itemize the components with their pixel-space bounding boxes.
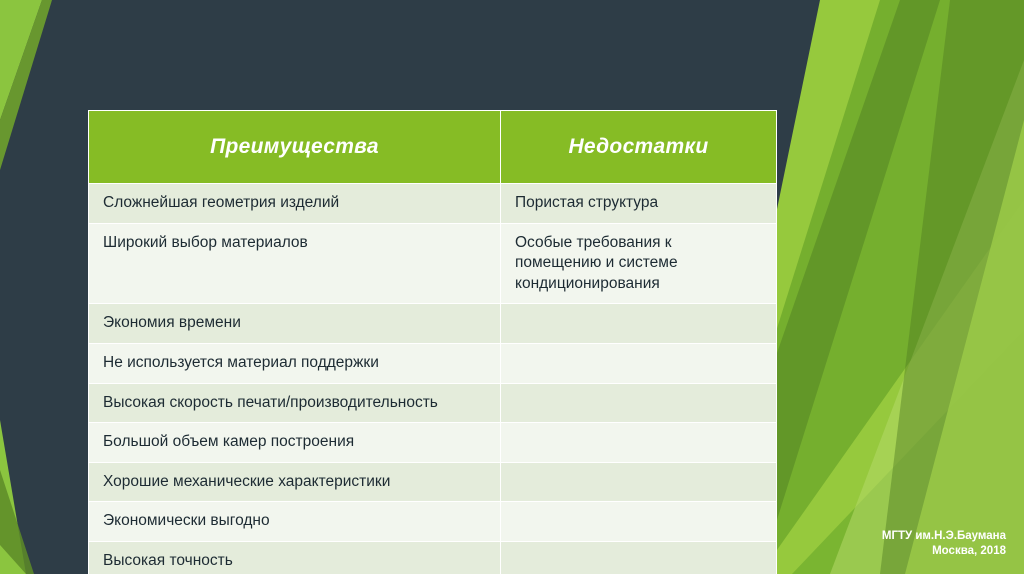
table-row: Экономически выгодно [89,502,777,542]
cell-disadvantage [501,423,777,463]
cell-advantage: Экономия времени [89,304,501,344]
cell-disadvantage: Особые требования к помещению и системе … [501,223,777,304]
footer-line-2: Москва, 2018 [882,544,1006,560]
cell-disadvantage: Пористая структура [501,184,777,224]
cell-disadvantage [501,383,777,423]
cell-advantage: Большой объем камер построения [89,423,501,463]
table-row: Широкий выбор материалов Особые требован… [89,223,777,304]
footer-credit: МГТУ им.Н.Э.Баумана Москва, 2018 [882,529,1006,560]
cell-advantage: Сложнейшая геометрия изделий [89,184,501,224]
table-row: Не используется материал поддержки [89,344,777,384]
column-header-disadvantages: Недостатки [501,111,777,184]
cell-advantage: Высокая скорость печати/производительнос… [89,383,501,423]
cell-advantage: Хорошие механические характеристики [89,462,501,502]
table-row: Высокая точность [89,542,777,574]
table-header-row: Преимущества Недостатки [89,111,777,184]
table-row: Сложнейшая геометрия изделий Пористая ст… [89,184,777,224]
cell-advantage: Экономически выгодно [89,502,501,542]
footer-line-1: МГТУ им.Н.Э.Баумана [882,529,1006,545]
cell-advantage: Высокая точность [89,542,501,574]
table-row: Большой объем камер построения [89,423,777,463]
advantages-disadvantages-table: Преимущества Недостатки Сложнейшая геоме… [88,110,776,574]
table-row: Экономия времени [89,304,777,344]
cell-disadvantage [501,542,777,574]
slide-canvas: Преимущества Недостатки Сложнейшая геоме… [0,0,1024,574]
table-row: Высокая скорость печати/производительнос… [89,383,777,423]
cell-disadvantage [501,304,777,344]
cell-disadvantage [501,502,777,542]
cell-advantage: Не используется материал поддержки [89,344,501,384]
cell-disadvantage [501,344,777,384]
cell-disadvantage [501,462,777,502]
table-row: Хорошие механические характеристики [89,462,777,502]
column-header-advantages: Преимущества [89,111,501,184]
cell-advantage: Широкий выбор материалов [89,223,501,304]
